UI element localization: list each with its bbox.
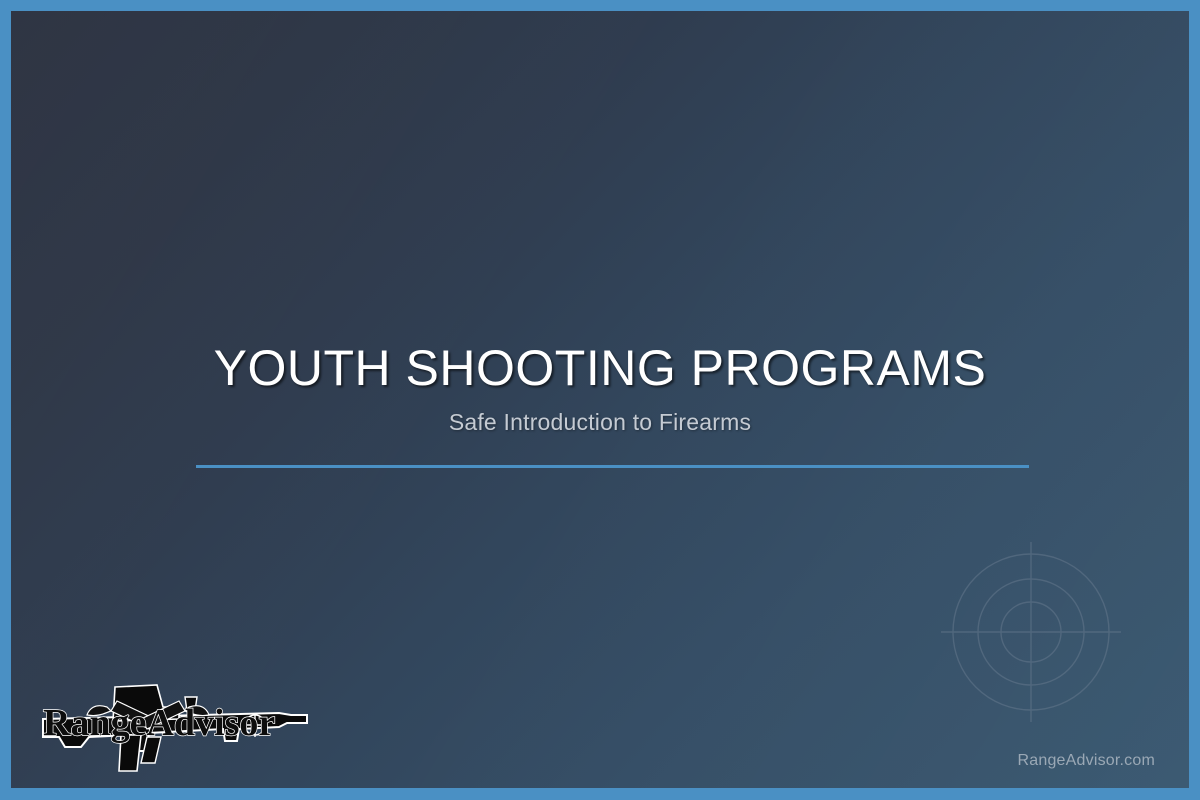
footer-url: RangeAdvisor.com bbox=[1018, 752, 1156, 770]
page-title: YOUTH SHOOTING PROGRAMS bbox=[11, 341, 1189, 395]
title-block: YOUTH SHOOTING PROGRAMS Safe Introductio… bbox=[11, 341, 1189, 436]
slide-frame: YOUTH SHOOTING PROGRAMS Safe Introductio… bbox=[0, 0, 1200, 800]
logo-wordmark: RangeAdvisor bbox=[43, 702, 275, 744]
slide-canvas: YOUTH SHOOTING PROGRAMS Safe Introductio… bbox=[11, 11, 1189, 788]
title-divider bbox=[196, 465, 1029, 468]
rifle-silhouette-icon: RangeAdvisor bbox=[29, 679, 319, 783]
crosshair-target-icon bbox=[930, 531, 1132, 733]
page-subtitle: Safe Introduction to Firearms bbox=[11, 409, 1189, 436]
